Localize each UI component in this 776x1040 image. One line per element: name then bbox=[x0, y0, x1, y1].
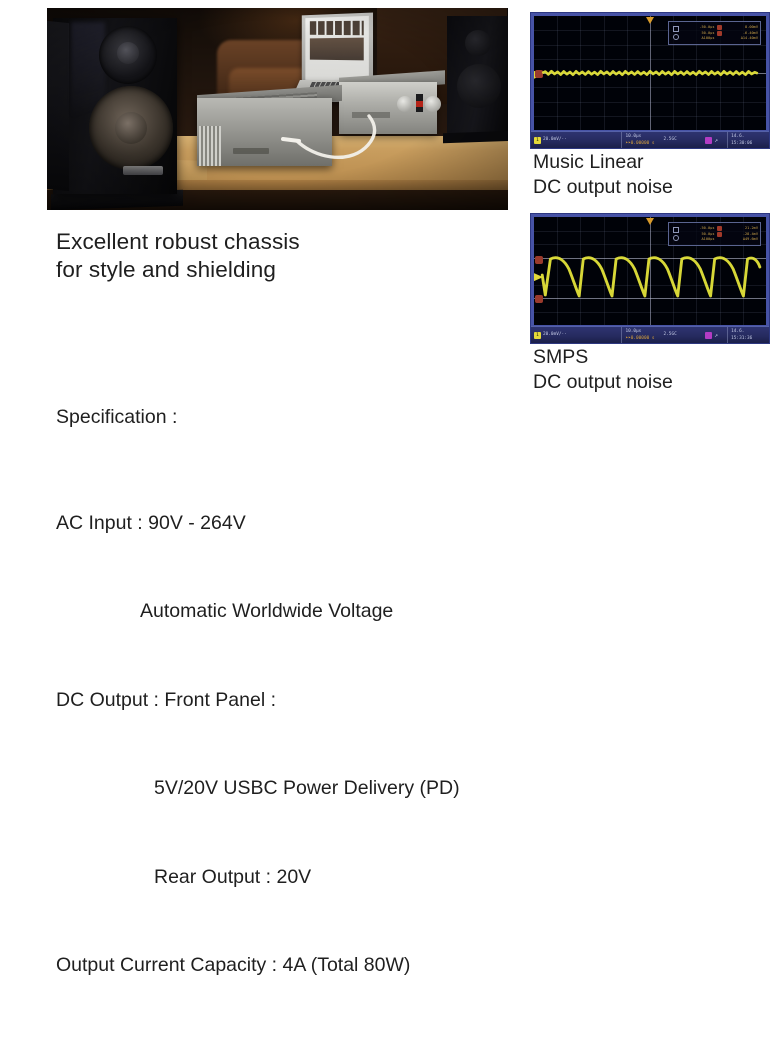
scope-caption-linear-line-1: Music Linear bbox=[533, 150, 673, 175]
scope-status-bar-smps: 1 20.0mV/·· 10.0µs ➤➤0.00000 s 2.5GC ↗ 1… bbox=[531, 326, 769, 343]
chassis-caption-line-1: Excellent robust chassis bbox=[56, 228, 476, 256]
scope-screen-linear: -50.0µs 50.0µs Δ100µs 8.00mV -6.40mV Δ14… bbox=[534, 16, 766, 130]
scope-caption-linear-line-2: DC output noise bbox=[533, 175, 673, 200]
specification-title: Specification : bbox=[56, 403, 526, 433]
trigger-slope-icon: ↗ bbox=[714, 137, 718, 144]
channel-1-indicator: 1 bbox=[534, 137, 541, 144]
sample-rate-readout: 2.5GC bbox=[664, 332, 677, 337]
spec-line-worldwide-voltage: Automatic Worldwide Voltage bbox=[56, 597, 526, 627]
scope-caption-smps-line-2: DC output noise bbox=[533, 370, 673, 395]
cursor-measurement-box-linear: -50.0µs 50.0µs Δ100µs 8.00mV -6.40mV Δ14… bbox=[668, 21, 761, 45]
cursor-square-icon bbox=[673, 26, 679, 32]
audio-setup-photo bbox=[47, 8, 508, 210]
slide-canvas: Excellent robust chassis for style and s… bbox=[0, 0, 776, 600]
scope-time-readout: 15:31:36 bbox=[731, 336, 752, 341]
scope-caption-linear: Music Linear DC output noise bbox=[533, 150, 673, 200]
cursor-circle-icon bbox=[673, 235, 679, 241]
scope-screen-smps: -50.0µs 50.0µs Δ100µs 21.2mV -28.4mV Δ49… bbox=[534, 217, 766, 325]
cursor-type-icons bbox=[671, 26, 681, 40]
cursor-square-icon bbox=[673, 227, 679, 233]
scope-caption-smps: SMPS DC output noise bbox=[533, 345, 673, 395]
channel-1-indicator: 1 bbox=[534, 332, 541, 339]
cursor-measurement-box-smps: -50.0µs 50.0µs Δ100µs 21.2mV -28.4mV Δ49… bbox=[668, 222, 761, 246]
trigger-position-readout: ➤➤0.00000 s bbox=[625, 336, 654, 341]
scope-time-readout: 15:30:06 bbox=[731, 141, 752, 146]
spec-line-ac-input: AC Input : 90V - 264V bbox=[56, 509, 526, 539]
cursor-circle-icon bbox=[673, 34, 679, 40]
cursor-time-column-linear: -50.0µs 50.0µs Δ100µs bbox=[681, 25, 715, 40]
scope-date-readout: 14.6. bbox=[731, 329, 744, 334]
vertical-scale-readout: 20.0mV/·· bbox=[543, 137, 567, 142]
timebase-readout: 10.0µs bbox=[625, 329, 641, 334]
spec-line-current-capacity: Output Current Capacity : 4A (Total 80W) bbox=[56, 951, 526, 981]
cursor-marker-icons bbox=[717, 226, 723, 241]
spec-line-dc-output: DC Output : Front Panel : bbox=[56, 686, 526, 716]
oscilloscope-screenshot-linear: -50.0µs 50.0µs Δ100µs 8.00mV -6.40mV Δ14… bbox=[531, 13, 769, 148]
trigger-position-readout: ➤➤0.00000 s bbox=[625, 141, 654, 146]
cursor-marker-icons bbox=[717, 25, 723, 40]
trigger-mode-indicator bbox=[705, 137, 712, 144]
trigger-mode-indicator bbox=[705, 332, 712, 339]
spec-line-rear-output: Rear Output : 20V bbox=[56, 863, 526, 893]
cursor-time-column-smps: -50.0µs 50.0µs Δ100µs bbox=[681, 226, 715, 241]
chassis-caption: Excellent robust chassis for style and s… bbox=[56, 228, 476, 284]
trigger-slope-icon: ↗ bbox=[714, 332, 718, 339]
timebase-readout: 10.0µs bbox=[625, 134, 641, 139]
vertical-scale-readout: 20.0mV/·· bbox=[543, 332, 567, 337]
scope-caption-smps-line-1: SMPS bbox=[533, 345, 673, 370]
sample-rate-readout: 2.5GC bbox=[664, 137, 677, 142]
cursor-voltage-column-linear: 8.00mV -6.40mV Δ14.40mV bbox=[725, 25, 759, 40]
chassis-caption-line-2: for style and shielding bbox=[56, 256, 476, 284]
photo-vignette bbox=[47, 8, 508, 210]
specification-block: Specification : AC Input : 90V - 264V Au… bbox=[56, 344, 526, 1040]
scope-status-bar-linear: 1 20.0mV/·· 10.0µs ➤➤0.00000 s 2.5GC ↗ 1… bbox=[531, 131, 769, 148]
cursor-type-icons bbox=[671, 227, 681, 241]
scope-date-readout: 14.6. bbox=[731, 134, 744, 139]
oscilloscope-screenshot-smps: -50.0µs 50.0µs Δ100µs 21.2mV -28.4mV Δ49… bbox=[531, 214, 769, 343]
spec-line-usbc-pd: 5V/20V USBC Power Delivery (PD) bbox=[56, 774, 526, 804]
cursor-voltage-column-smps: 21.2mV -28.4mV Δ49.6mV bbox=[725, 226, 759, 241]
